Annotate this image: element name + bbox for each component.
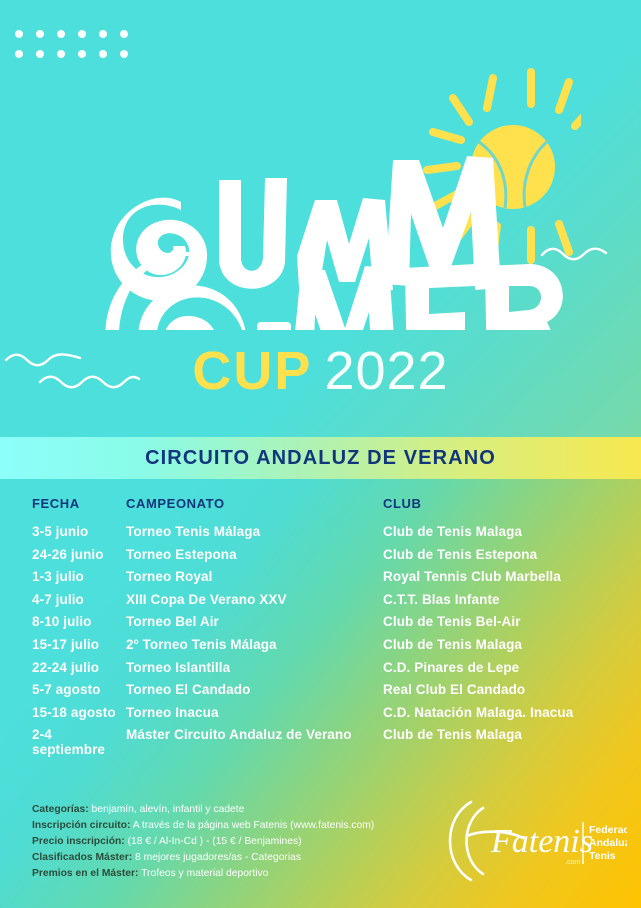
cell-club: Royal Tennis Club Marbella: [383, 569, 641, 584]
cell-club: C.T.T. Blas Infante: [383, 592, 641, 607]
dot-icon: [120, 50, 128, 58]
legal-label: Inscripción circuito:: [32, 820, 130, 831]
legal-line: Inscripción circuito: A través de la pág…: [32, 818, 432, 834]
cell-club: C.D. Natación Malaga. Inacua: [383, 705, 641, 720]
cell-campeonato: Torneo Bel Air: [126, 614, 383, 629]
cell-fecha: 8-10 julio: [0, 614, 126, 629]
column-header-fecha: FECHA: [0, 496, 126, 511]
cell-campeonato: Torneo Islantilla: [126, 660, 383, 675]
legal-line: Categorías: benjamín, alevín, infantil y…: [32, 802, 432, 818]
cell-campeonato: XIII Copa De Verano XXV: [126, 592, 383, 607]
cell-fecha: 15-17 julio: [0, 637, 126, 652]
poster-root: CUP2022 CIRCUITO ANDALUZ DE VERANO FECHA…: [0, 0, 641, 908]
legal-line: Premios en el Máster: Trofeos y material…: [32, 866, 432, 882]
cell-club: Real Club El Candado: [383, 682, 641, 697]
cup-label: CUP: [192, 341, 312, 401]
subtitle-text: CIRCUITO ANDALUZ DE VERANO: [145, 447, 496, 470]
cell-club: Club de Tenis Estepona: [383, 547, 641, 562]
table-row: 22-24 julio Torneo Islantilla C.D. Pinar…: [0, 660, 641, 683]
table-row: 24-26 junio Torneo Estepona Club de Teni…: [0, 547, 641, 570]
cell-fecha: 5-7 agosto: [0, 682, 126, 697]
cell-club: C.D. Pinares de Lepe: [383, 660, 641, 675]
cell-campeonato: 2º Torneo Tenis Málaga: [126, 637, 383, 652]
dot-icon: [99, 50, 107, 58]
legal-value: A través de la página web Fatenis (www.f…: [133, 820, 375, 831]
legal-label: Clasificados Máster:: [32, 852, 132, 863]
federation-line-1: Federación: [589, 824, 627, 836]
cell-campeonato: Torneo El Candado: [126, 682, 383, 697]
cell-campeonato: Torneo Inacua: [126, 705, 383, 720]
table-row: 3-5 junio Torneo Tenis Málaga Club de Te…: [0, 524, 641, 547]
federation-line-3: Tenis: [589, 850, 616, 862]
cell-club: Club de Tenis Malaga: [383, 524, 641, 539]
cell-fecha: 1-3 julio: [0, 569, 126, 584]
legal-label: Premios en el Máster:: [32, 868, 138, 879]
dot-icon: [99, 30, 107, 38]
schedule-table: FECHA CAMPEONATO CLUB 3-5 junio Torneo T…: [0, 496, 641, 750]
legal-label: Categorías:: [32, 804, 89, 815]
cell-club: Club de Tenis Malaga: [383, 727, 641, 742]
table-row: 5-7 agosto Torneo El Candado Real Club E…: [0, 682, 641, 705]
table-row: 15-17 julio 2º Torneo Tenis Málaga Club …: [0, 637, 641, 660]
table-header-row: FECHA CAMPEONATO CLUB: [0, 496, 641, 524]
dot-icon: [78, 30, 86, 38]
table-row: 15-18 agosto Torneo Inacua C.D. Natación…: [0, 705, 641, 728]
cell-fecha: 22-24 julio: [0, 660, 126, 675]
fatenis-domain: .com: [565, 859, 580, 866]
cell-club: Club de Tenis Malaga: [383, 637, 641, 652]
footer-section: Categorías: benjamín, alevín, infantil y…: [0, 796, 641, 908]
subtitle-band: CIRCUITO ANDALUZ DE VERANO: [0, 437, 641, 479]
dot-icon: [15, 30, 23, 38]
federation-line-2: Andaluza de: [589, 837, 627, 849]
legal-info-block: Categorías: benjamín, alevín, infantil y…: [32, 802, 432, 882]
dot-icon: [78, 50, 86, 58]
cell-fecha: 15-18 agosto: [0, 705, 126, 720]
table-row: 1-3 julio Torneo Royal Royal Tennis Club…: [0, 569, 641, 592]
cell-club: Club de Tenis Bel-Air: [383, 614, 641, 629]
cell-fecha: 4-7 julio: [0, 592, 126, 607]
cell-fecha: 3-5 junio: [0, 524, 126, 539]
dot-icon: [120, 30, 128, 38]
legal-value: Trofeos y material deportivo: [141, 868, 268, 879]
dot-icon: [57, 50, 65, 58]
cell-campeonato: Torneo Estepona: [126, 547, 383, 562]
dot-icon: [36, 30, 44, 38]
summer-wordmark: [0, 60, 641, 340]
column-header-campeonato: CAMPEONATO: [126, 496, 383, 511]
legal-value: (18 € / Al-In-Cd ) - (15 € / Benjamines): [128, 836, 302, 847]
legal-line: Clasificados Máster: 8 mejores jugadores…: [32, 850, 432, 866]
column-header-club: CLUB: [383, 496, 641, 511]
table-row: 2-4 septiembre Máster Circuito Andaluz d…: [0, 727, 641, 750]
cell-campeonato: Torneo Tenis Málaga: [126, 524, 383, 539]
fatenis-wordmark: Fatenis: [490, 823, 593, 860]
cell-campeonato: Torneo Royal: [126, 569, 383, 584]
year-label: 2022: [324, 341, 448, 401]
hero-section: CUP2022: [0, 0, 641, 437]
legal-line: Precio inscripción: (18 € / Al-In-Cd ) -…: [32, 834, 432, 850]
legal-label: Precio inscripción:: [32, 836, 125, 847]
cell-fecha: 2-4 septiembre: [0, 727, 126, 757]
dot-icon: [36, 50, 44, 58]
fatenis-logo: Fatenis .com Federación Andaluza de Teni…: [437, 798, 627, 884]
dot-icon: [15, 50, 23, 58]
table-row: 4-7 julio XIII Copa De Verano XXV C.T.T.…: [0, 592, 641, 615]
dot-icon: [57, 30, 65, 38]
legal-value: 8 mejores jugadores/as - Categorias: [135, 852, 301, 863]
cell-campeonato: Máster Circuito Andaluz de Verano: [126, 727, 383, 742]
cup-year-line: CUP2022: [0, 340, 641, 402]
legal-value: benjamín, alevín, infantil y cadete: [92, 804, 245, 815]
cell-fecha: 24-26 junio: [0, 547, 126, 562]
table-row: 8-10 julio Torneo Bel Air Club de Tenis …: [0, 614, 641, 637]
